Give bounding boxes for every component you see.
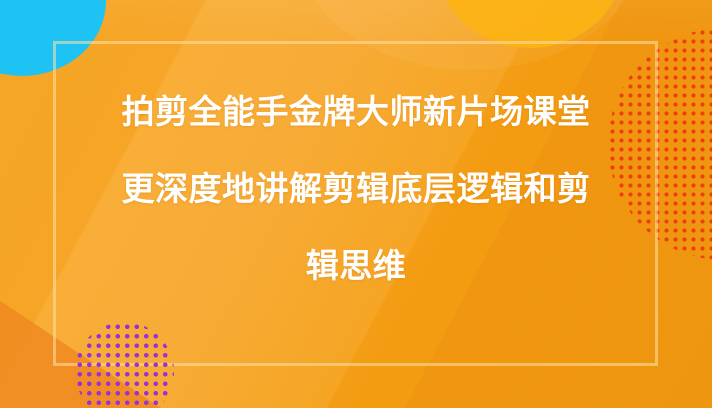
title-line-2: 更深度地讲解剪辑底层逻辑和剪 <box>48 169 664 209</box>
title-line-1: 拍剪全能手金牌大师新片场课堂 <box>48 92 664 132</box>
title-line-3: 辑思维 <box>48 246 664 286</box>
course-banner: 拍剪全能手金牌大师新片场课堂 更深度地讲解剪辑底层逻辑和剪 辑思维 <box>0 0 712 408</box>
banner-title: 拍剪全能手金牌大师新片场课堂 更深度地讲解剪辑底层逻辑和剪 辑思维 <box>0 92 712 286</box>
